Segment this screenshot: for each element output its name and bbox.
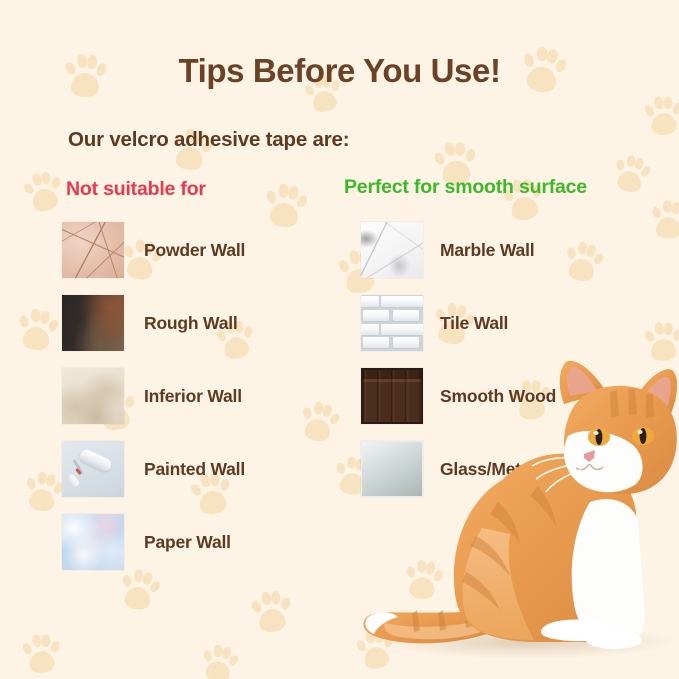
list-item: Marble Wall — [361, 222, 556, 278]
list-item-label: Paper Wall — [144, 532, 231, 553]
list-item-label: Tile Wall — [440, 313, 508, 334]
tile-brick — [405, 324, 423, 335]
paint-roller-grip — [67, 473, 81, 488]
subtitle: Our velcro adhesive tape are: — [68, 128, 349, 152]
tile-brick — [361, 296, 379, 307]
list-item: Painted Wall — [62, 441, 245, 497]
list-item-label: Rough Wall — [144, 313, 238, 334]
painted-wall-swatch — [62, 441, 124, 497]
list-item: Inferior Wall — [62, 368, 245, 424]
list-item: Tile Wall — [361, 295, 556, 351]
tile-brick — [361, 324, 379, 335]
infographic-canvas: Tips Before You Use! Our velcro adhesive… — [0, 0, 679, 679]
list-item-label: Inferior Wall — [144, 386, 242, 407]
tile-brick — [393, 337, 419, 348]
tile-wall-swatch — [361, 295, 423, 351]
powder-wall-swatch — [62, 222, 124, 278]
list-item: Paper Wall — [62, 514, 245, 570]
list-item-label: Powder Wall — [144, 240, 245, 261]
paper-wall-swatch — [62, 514, 124, 570]
tile-brick — [381, 324, 407, 335]
list-item-label: Painted Wall — [144, 459, 245, 480]
marble-wall-swatch — [361, 222, 423, 278]
tile-brick — [405, 296, 423, 307]
not-suitable-list: Powder Wall Rough Wall Inferior Wall Pai… — [62, 222, 245, 587]
paint-roller-icon — [78, 448, 113, 473]
rough-wall-swatch — [62, 295, 124, 351]
not-suitable-heading: Not suitable for — [66, 178, 206, 201]
page-title: Tips Before You Use! — [0, 52, 679, 90]
cat-image — [352, 352, 679, 679]
tile-brick — [363, 310, 389, 321]
perfect-for-heading: Perfect for smooth surface — [344, 176, 587, 199]
list-item: Rough Wall — [62, 295, 245, 351]
list-item-label: Marble Wall — [440, 240, 534, 261]
tile-brick — [381, 296, 407, 307]
inferior-wall-swatch — [62, 368, 124, 424]
tile-brick — [393, 310, 419, 321]
list-item: Powder Wall — [62, 222, 245, 278]
tile-brick — [363, 337, 389, 348]
